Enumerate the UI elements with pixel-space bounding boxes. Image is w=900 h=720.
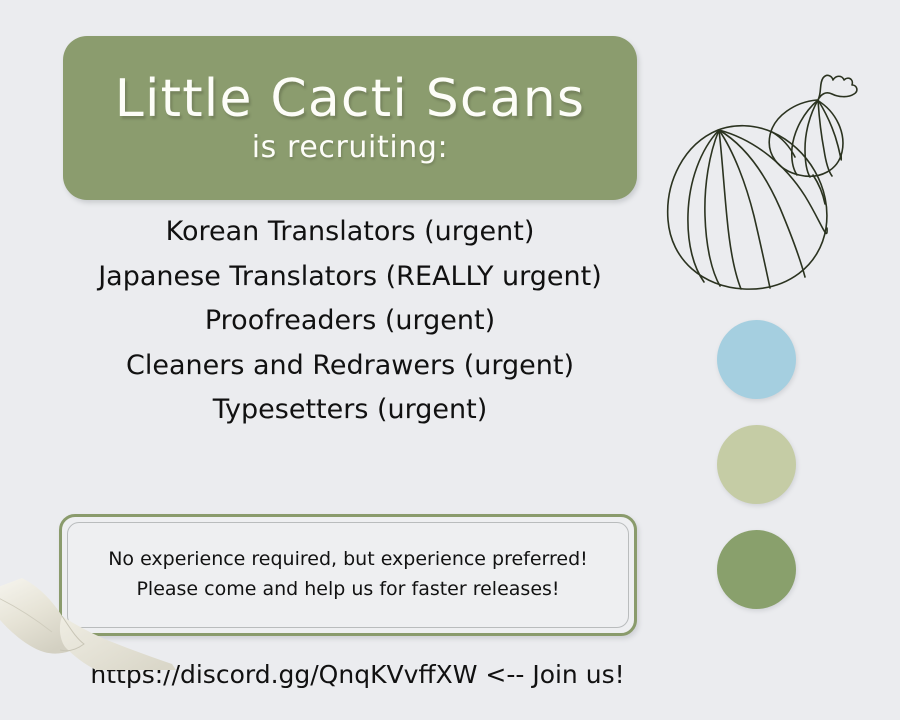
note-line-1: No experience required, but experience p… — [108, 550, 588, 570]
swatch-sage-green — [717, 530, 796, 609]
ribbon-icon — [0, 560, 180, 670]
list-item: Korean Translators (urgent) — [166, 218, 535, 246]
banner-subtitle: is recruiting: — [252, 132, 448, 164]
recruitment-poster: Little Cacti Scans is recruiting: Korean… — [0, 0, 900, 720]
note-line-2: Please come and help us for faster relea… — [136, 580, 559, 600]
list-item: Japanese Translators (REALLY urgent) — [98, 263, 602, 291]
cactus-icon — [662, 42, 892, 292]
list-item: Proofreaders (urgent) — [205, 307, 495, 335]
swatch-light-blue — [717, 320, 796, 399]
list-item: Cleaners and Redrawers (urgent) — [126, 352, 574, 380]
header-banner: Little Cacti Scans is recruiting: — [63, 36, 637, 200]
list-item: Typesetters (urgent) — [213, 396, 487, 424]
page-title: Little Cacti Scans — [115, 73, 585, 126]
roles-list: Korean Translators (urgent) Japanese Tra… — [40, 218, 660, 441]
swatch-pale-khaki — [717, 425, 796, 504]
